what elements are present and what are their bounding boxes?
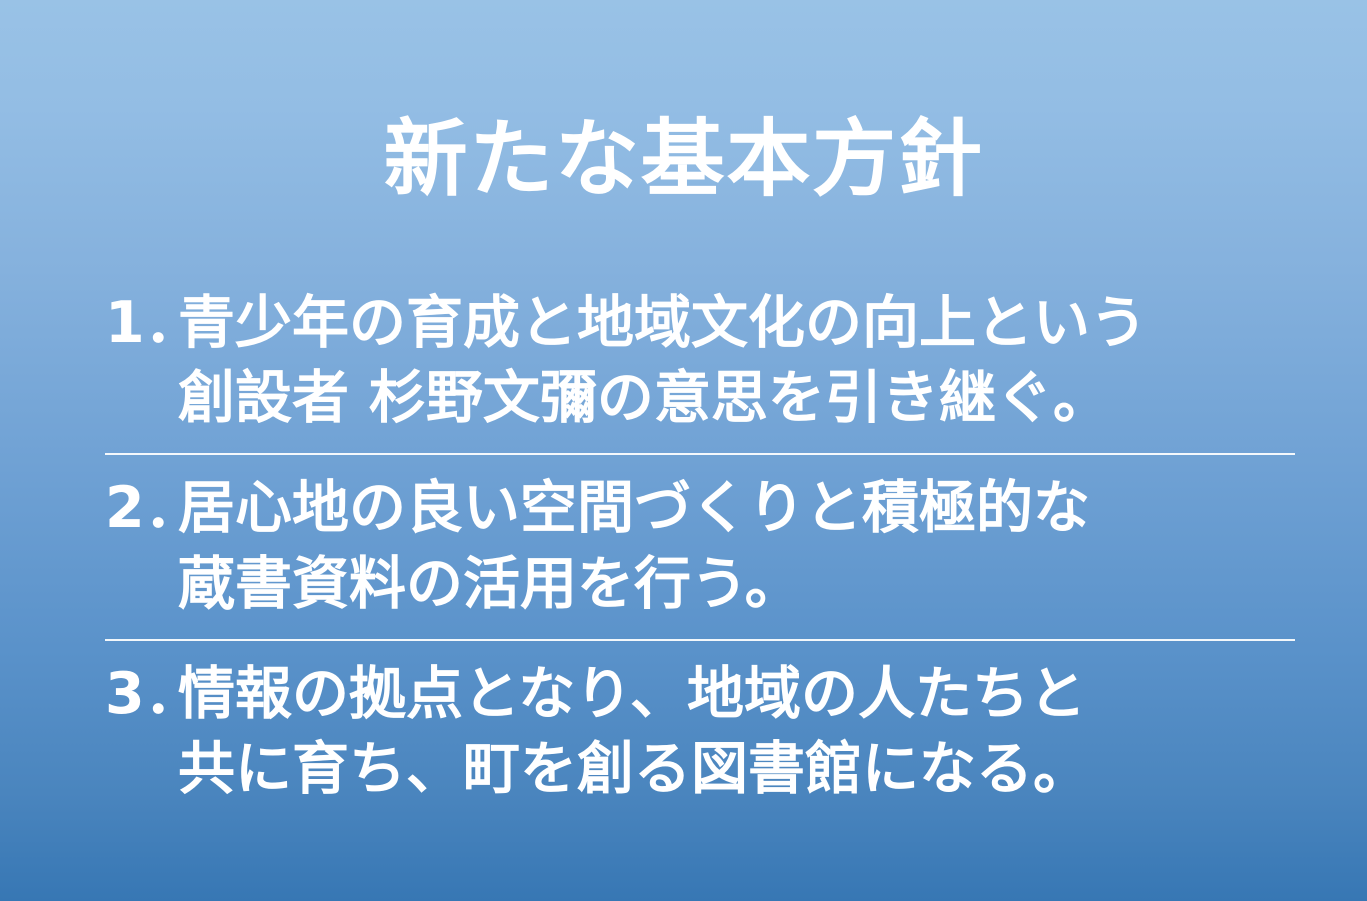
list-item-number: 2． xyxy=(105,471,178,546)
list-item-text: 居心地の良い空間づくりと積極的な 蔵書資料の活用を行う。 xyxy=(105,471,1295,621)
list-item-line: 蔵書資料の活用を行う。 xyxy=(178,547,1295,622)
list-item-number: 3． xyxy=(105,657,178,732)
list-item: 3． 情報の拠点となり、地域の人たちと 共に育ち、町を創る図書館になる。 xyxy=(0,657,1367,807)
page-title: 新たな基本方針 xyxy=(0,112,1367,206)
presentation-slide: 新たな基本方針 1． 青少年の育成と地域文化の向上という 創設者 杉野文彌の意思… xyxy=(0,0,1367,901)
list-item: 2． 居心地の良い空間づくりと積極的な 蔵書資料の活用を行う。 xyxy=(0,471,1367,621)
list-item-text: 情報の拠点となり、地域の人たちと 共に育ち、町を創る図書館になる。 xyxy=(105,657,1295,807)
list-item-text: 青少年の育成と地域文化の向上という 創設者 杉野文彌の意思を引き継ぐ。 xyxy=(105,286,1295,436)
divider xyxy=(105,453,1295,455)
list-item-line: 創設者 杉野文彌の意思を引き継ぐ。 xyxy=(178,361,1295,436)
list-item-line: 居心地の良い空間づくりと積極的な xyxy=(178,471,1295,546)
list-item: 1． 青少年の育成と地域文化の向上という 創設者 杉野文彌の意思を引き継ぐ。 xyxy=(0,286,1367,436)
policy-list: 1． 青少年の育成と地域文化の向上という 創設者 杉野文彌の意思を引き継ぐ。 2… xyxy=(0,286,1367,807)
list-item-line: 共に育ち、町を創る図書館になる。 xyxy=(178,732,1295,807)
list-item-line: 青少年の育成と地域文化の向上という xyxy=(178,286,1295,361)
divider xyxy=(105,639,1295,641)
list-item-line: 情報の拠点となり、地域の人たちと xyxy=(178,657,1295,732)
list-item-number: 1． xyxy=(105,286,178,361)
